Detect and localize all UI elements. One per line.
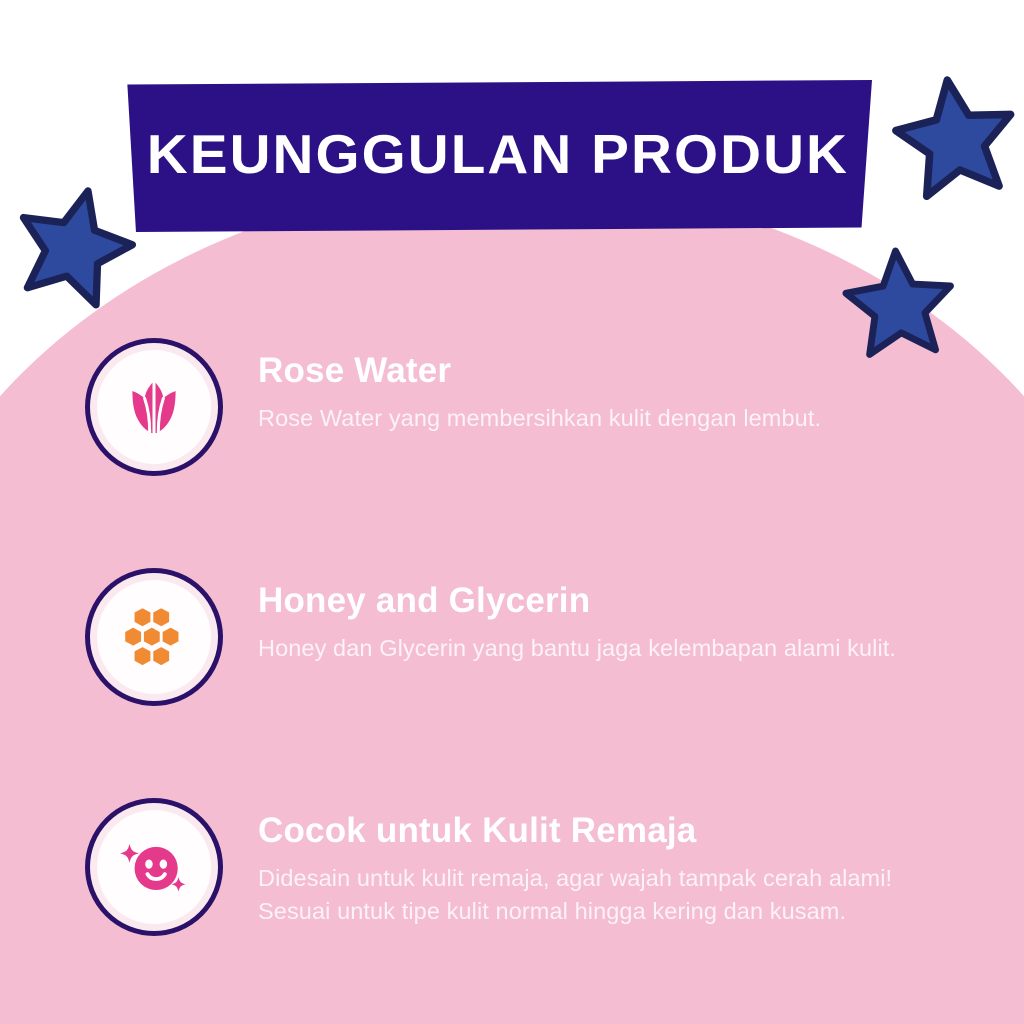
feature-item-rose-water: Rose Water Rose Water yang membersihkan … (0, 338, 1024, 476)
banner-shape: KEUNGGULAN PRODUK (124, 80, 872, 232)
feature-description-line: Sesuai untuk tipe kulit normal hingga ke… (258, 895, 994, 928)
feature-description: Rose Water yang membersihkan kulit denga… (258, 402, 994, 435)
header-banner: KEUNGGULAN PRODUK (0, 0, 1024, 260)
feature-description-line: Didesain untuk kulit remaja, agar wajah … (258, 862, 994, 895)
icon-badge-teen-skin (85, 798, 223, 936)
feature-description-line: Rose Water yang membersihkan kulit denga… (258, 402, 994, 435)
feature-text-rose-water: Rose Water Rose Water yang membersihkan … (223, 338, 994, 435)
product-benefits-infographic: KEUNGGULAN PRODUK Rose Water Rose (0, 0, 1024, 1024)
feature-text-honey-glycerin: Honey and Glycerin Honey dan Glycerin ya… (223, 568, 994, 665)
icon-badge-rose-water (85, 338, 223, 476)
feature-title: Rose Water (258, 352, 994, 391)
feature-title: Cocok untuk Kulit Remaja (258, 812, 994, 851)
feature-title: Honey and Glycerin (258, 582, 994, 621)
icon-badge-honey-glycerin (85, 568, 223, 706)
feature-text-teen-skin: Cocok untuk Kulit Remaja Didesain untuk … (223, 798, 994, 928)
feature-list: Rose Water Rose Water yang membersihkan … (0, 330, 1024, 936)
feature-item-teen-skin: Cocok untuk Kulit Remaja Didesain untuk … (0, 798, 1024, 936)
honeycomb-icon (118, 601, 190, 673)
rose-flower-icon (118, 371, 190, 443)
feature-description: Didesain untuk kulit remaja, agar wajah … (258, 862, 994, 929)
feature-description: Honey dan Glycerin yang bantu jaga kelem… (258, 632, 994, 665)
feature-item-honey-glycerin: Honey and Glycerin Honey dan Glycerin ya… (0, 568, 1024, 706)
page-title: KEUNGGULAN PRODUK (147, 127, 849, 182)
smiley-face-sparkle-icon (118, 831, 190, 903)
feature-description-line: Honey dan Glycerin yang bantu jaga kelem… (258, 632, 994, 665)
